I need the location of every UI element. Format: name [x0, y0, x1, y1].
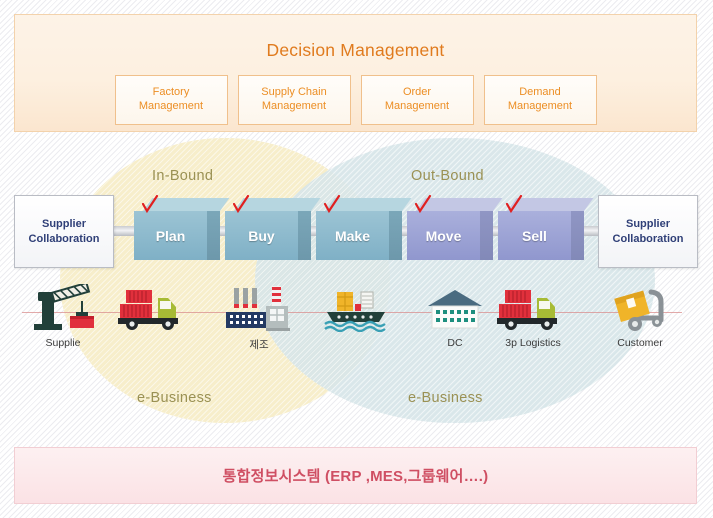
ebusiness-left-label: e-Business — [137, 390, 212, 406]
process-step-sell[interactable]: Sell — [498, 198, 584, 260]
container-truck-icon — [108, 284, 200, 332]
container-truck-icon — [487, 284, 579, 332]
process-step-plan[interactable]: Plan — [134, 198, 220, 260]
diagram-canvas: In-Bound Out-Bound e-Business e-Business… — [0, 0, 713, 518]
process-step-buy[interactable]: Buy — [225, 198, 311, 260]
outbound-zone-label: Out-Bound — [411, 168, 484, 184]
process-step-buy-side-face — [298, 211, 311, 260]
card-order-management-label: OrderManagement — [385, 86, 449, 114]
process-step-sell-top-face — [507, 198, 593, 211]
process-step-sell-label: Sell — [522, 228, 547, 244]
supply-chain-node-3p-logistics-label: 3p Logistics — [487, 337, 579, 349]
page-title: Decision Management — [15, 40, 696, 61]
process-step-make-side-face — [389, 211, 402, 260]
process-step-make-label: Make — [335, 228, 370, 244]
inbound-zone-label: In-Bound — [152, 168, 213, 184]
process-step-move-label: Move — [426, 228, 462, 244]
card-demand-management[interactable]: DemandManagement — [484, 75, 597, 125]
decision-management-card-row: FactoryManagement Supply ChainManagement… — [15, 75, 696, 125]
card-order-management[interactable]: OrderManagement — [361, 75, 474, 125]
integrated-information-system-label: 통합정보시스템 (ERP ,MES,그룹웨어….) — [223, 465, 489, 486]
process-step-sell-front-face: Sell — [498, 211, 571, 260]
process-step-make-front-face: Make — [316, 211, 389, 260]
process-step-buy-label: Buy — [248, 228, 274, 244]
supplier-collaboration-left-label: SupplierCollaboration — [29, 217, 100, 246]
process-step-make-top-face — [325, 198, 411, 211]
process-step-move-front-face: Move — [407, 211, 480, 260]
supply-chain-node-transport-1[interactable] — [108, 284, 200, 337]
process-step-make[interactable]: Make — [316, 198, 402, 260]
process-step-plan-top-face — [143, 198, 229, 211]
decision-management-panel: Decision Management FactoryManagement Su… — [14, 14, 697, 132]
process-step-move[interactable]: Move — [407, 198, 493, 260]
supply-chain-node-manufacturing[interactable]: 제조 — [213, 284, 305, 352]
card-factory-management[interactable]: FactoryManagement — [115, 75, 228, 125]
card-demand-management-label: DemandManagement — [508, 86, 572, 114]
hand-truck-icon — [594, 284, 686, 332]
card-supply-chain-management[interactable]: Supply ChainManagement — [238, 75, 351, 125]
process-step-plan-front-face: Plan — [134, 211, 207, 260]
supplier-collaboration-right-label: SupplierCollaboration — [613, 217, 684, 246]
card-factory-management-label: FactoryManagement — [139, 86, 203, 114]
crane-icon — [17, 284, 109, 332]
integrated-information-system-bar: 통합정보시스템 (ERP ,MES,그룹웨어….) — [14, 447, 697, 504]
card-supply-chain-management-label: Supply ChainManagement — [261, 86, 326, 114]
supplier-collaboration-right[interactable]: SupplierCollaboration — [598, 195, 698, 268]
supply-chain-node-customer-label: Customer — [594, 337, 686, 349]
cargo-ship-icon — [312, 284, 404, 332]
supplier-collaboration-left[interactable]: SupplierCollaboration — [14, 195, 114, 268]
process-step-buy-top-face — [234, 198, 320, 211]
ebusiness-right-label: e-Business — [408, 390, 483, 406]
supply-chain-node-shipping[interactable] — [312, 284, 404, 337]
supply-chain-node-3p-logistics[interactable]: 3p Logistics — [487, 284, 579, 349]
process-step-plan-label: Plan — [156, 228, 186, 244]
factory-icon — [213, 284, 305, 332]
process-step-move-side-face — [480, 211, 493, 260]
supply-chain-node-manufacturing-label: 제조 — [213, 337, 305, 352]
process-step-move-top-face — [416, 198, 502, 211]
supply-chain-node-customer[interactable]: Customer — [594, 284, 686, 349]
supply-chain-node-supplie[interactable]: Supplie — [17, 284, 109, 349]
process-step-plan-side-face — [207, 211, 220, 260]
process-step-buy-front-face: Buy — [225, 211, 298, 260]
supply-chain-node-supplie-label: Supplie — [17, 337, 109, 349]
process-step-sell-side-face — [571, 211, 584, 260]
